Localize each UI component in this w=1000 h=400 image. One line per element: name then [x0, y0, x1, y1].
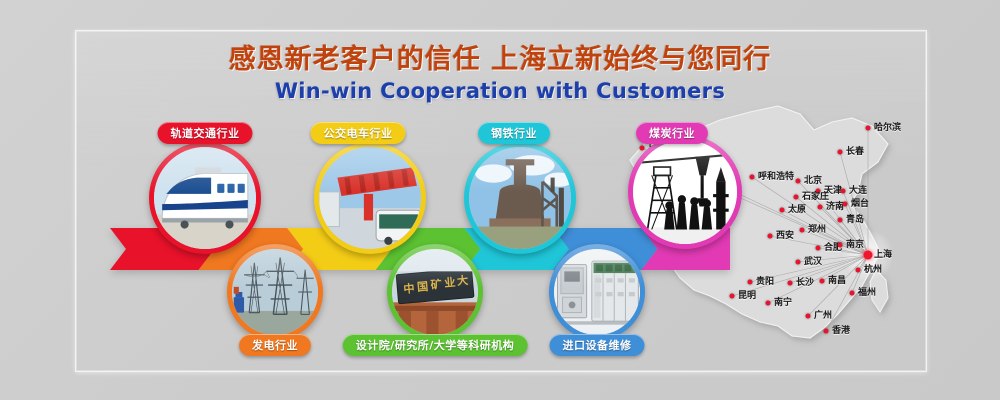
svg-text:业: 业: [444, 275, 456, 290]
industry-bubble-rail[interactable]: [149, 142, 261, 254]
electrical-switchgear-image: [554, 249, 640, 335]
power-transmission-towers-image: [232, 249, 318, 335]
university-signboard-image: 中国矿业大: [392, 249, 478, 335]
industry-bubbles: 轨道交通行业公交电车行业钢铁行业煤炭行业发电行业中国矿业大设计院/研究所/大学等…: [0, 0, 1000, 400]
industry-bubble-bus[interactable]: [314, 142, 426, 254]
coal-mine-workers-image: [633, 140, 737, 244]
banner-stage: 哈尔滨长春乌鲁木齐呼和浩特北京天津大连银川石家庄济南烟台太原青岛西安郑州合肥南京…: [0, 0, 1000, 400]
industry-bubble-power[interactable]: [227, 244, 323, 340]
svg-text:矿: 矿: [430, 277, 442, 292]
industry-label-import[interactable]: 进口设备维修: [550, 334, 645, 356]
svg-text:国: 国: [416, 279, 428, 294]
industry-label-rail[interactable]: 轨道交通行业: [158, 122, 253, 144]
industry-bubble-research[interactable]: 中国矿业大: [387, 244, 483, 340]
steel-blast-furnace-image: [469, 147, 571, 249]
svg-text:中: 中: [403, 281, 415, 296]
industry-bubble-coal[interactable]: [628, 135, 742, 249]
high-speed-train-image: [154, 147, 256, 249]
industry-label-research[interactable]: 设计院/研究所/大学等科研机构: [343, 334, 528, 356]
industry-bubble-steel[interactable]: [464, 142, 576, 254]
city-pavilion-bus-image: [319, 147, 421, 249]
industry-label-coal[interactable]: 煤炭行业: [636, 122, 708, 144]
industry-label-power[interactable]: 发电行业: [239, 334, 311, 356]
svg-text:大: 大: [456, 273, 469, 288]
industry-label-bus[interactable]: 公交电车行业: [311, 122, 406, 144]
industry-bubble-import[interactable]: [549, 244, 645, 340]
industry-label-steel[interactable]: 钢铁行业: [478, 122, 550, 144]
